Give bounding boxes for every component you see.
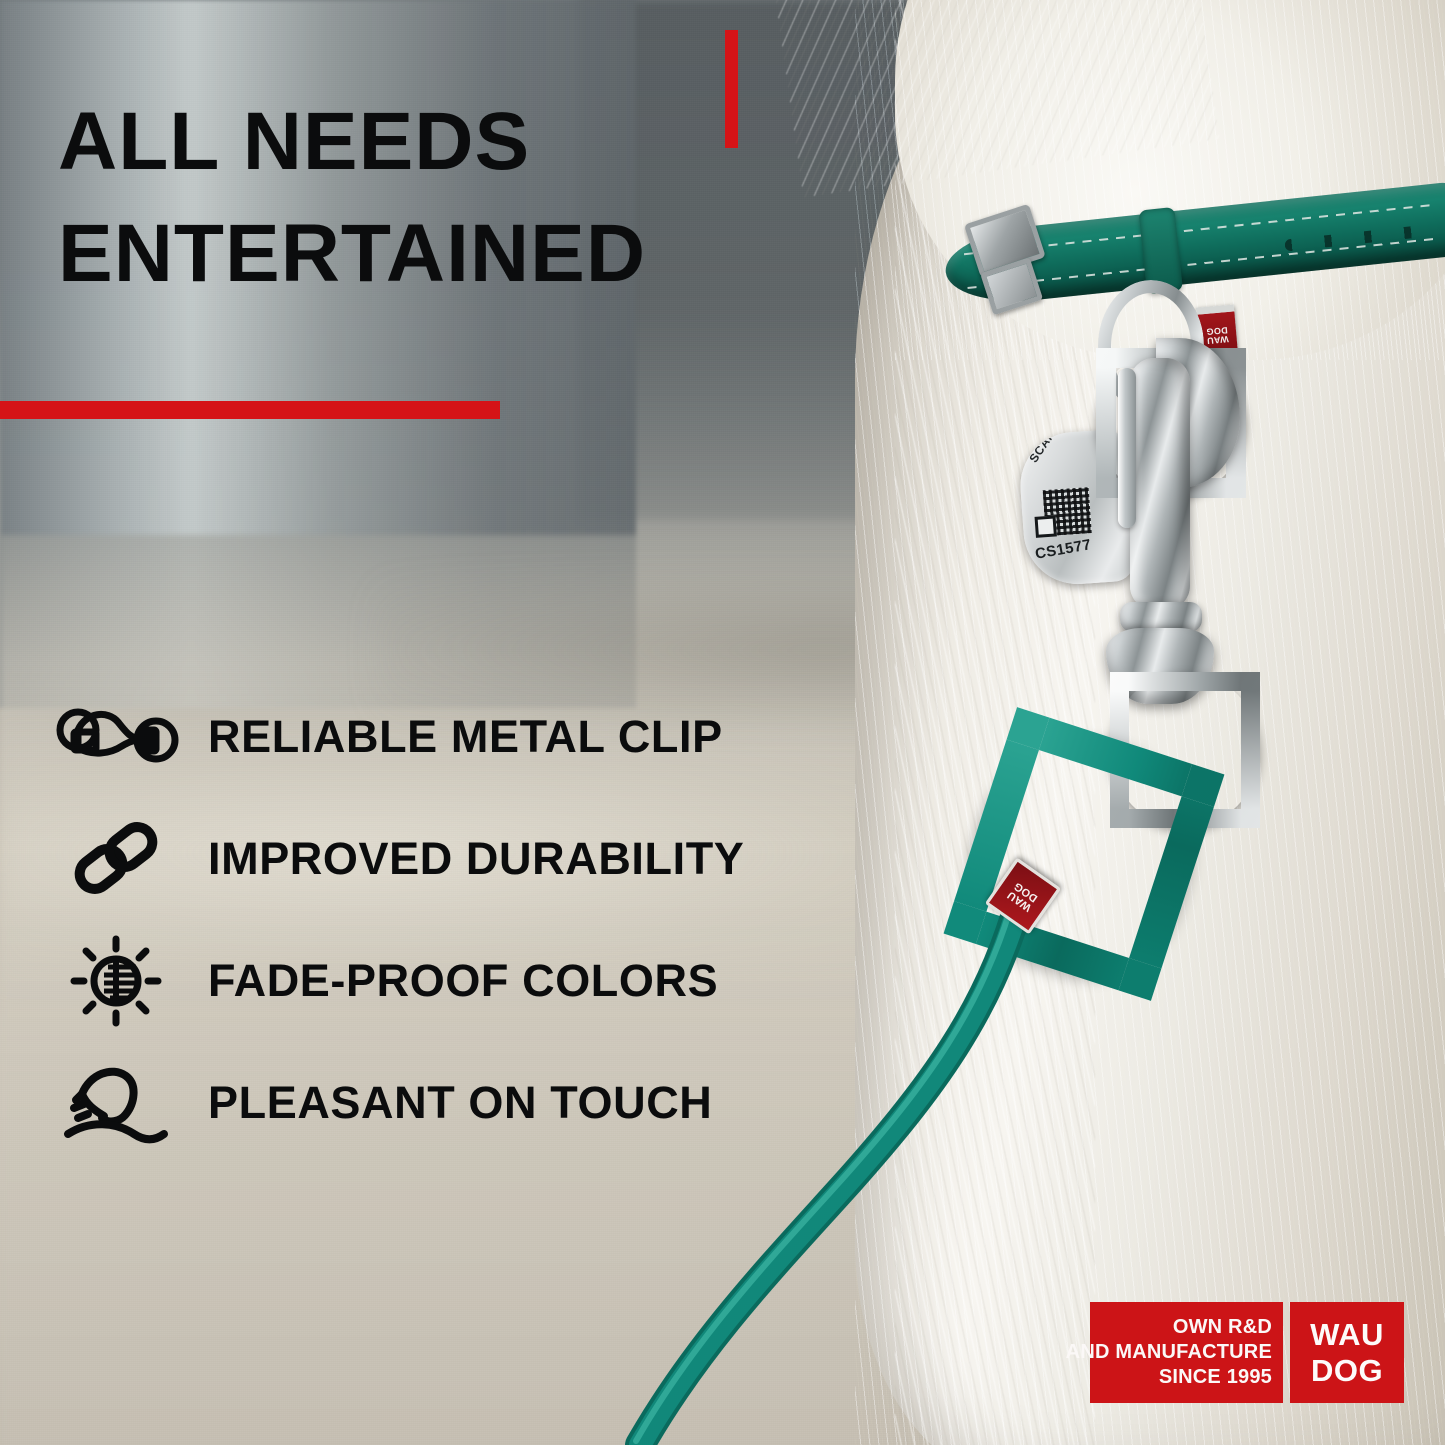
qr-finder-pattern <box>1035 515 1057 537</box>
list-item: PLEASANT ON TOUCH <box>50 1042 890 1164</box>
page-title: ALL NEEDS ENTERTAINED <box>58 86 938 309</box>
list-item: FADE-PROOF COLORS <box>50 920 890 1042</box>
feature-label: PLEASANT ON TOUCH <box>208 1077 712 1129</box>
hook-gate-lever <box>1118 368 1136 528</box>
sun-fade-icon <box>50 931 182 1031</box>
headline-line-2: ENTERTAINED <box>58 198 938 310</box>
feature-label: RELIABLE METAL CLIP <box>208 711 723 763</box>
manufacturing-claim-badge: OWN R&D AND MANUFACTURE SINCE 1995 <box>1090 1302 1283 1403</box>
claim-line-3: SINCE 1995 <box>1159 1365 1272 1390</box>
accent-rule-horizontal <box>0 401 500 419</box>
feature-list: RELIABLE METAL CLIP IMPROVED DURABILITY <box>50 676 890 1164</box>
chain-link-icon <box>50 809 182 909</box>
feature-label: IMPROVED DURABILITY <box>208 833 744 885</box>
hand-touch-icon <box>50 1053 182 1153</box>
claim-line-2: AND MANUFACTURE <box>1066 1340 1272 1365</box>
logo-line-1: WAU <box>1310 1317 1384 1353</box>
feature-label: FADE-PROOF COLORS <box>208 955 718 1007</box>
product-feature-banner: WAU DOG SCAN ME CS1577 WAU DOG ALL NEEDS… <box>0 0 1445 1445</box>
logo-line-2: DOG <box>1311 1353 1383 1389</box>
list-item: RELIABLE METAL CLIP <box>50 676 890 798</box>
metal-snap-hook <box>1070 280 1260 700</box>
brand-logo-badge: WAU DOG <box>1290 1302 1404 1403</box>
headline-line-1: ALL NEEDS <box>58 86 938 198</box>
leash-brand-label-text: WAU DOG <box>997 873 1049 919</box>
list-item: IMPROVED DURABILITY <box>50 798 890 920</box>
snap-hook-icon <box>50 687 182 787</box>
hook-body <box>1130 358 1190 610</box>
claim-line-1: OWN R&D <box>1173 1315 1272 1340</box>
